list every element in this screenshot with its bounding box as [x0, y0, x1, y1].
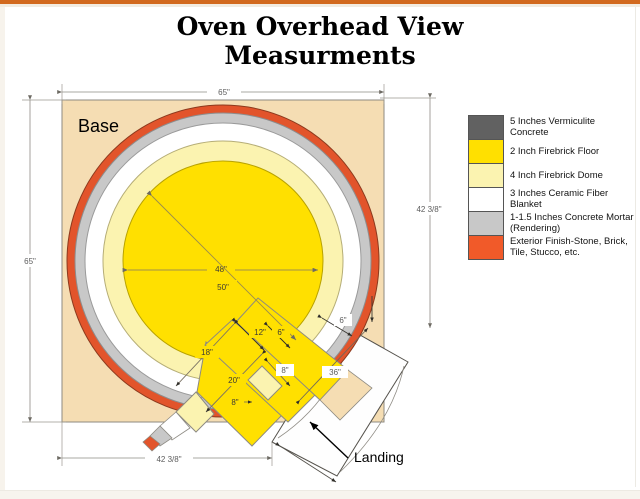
dimension-top-label: 65"	[218, 88, 230, 97]
legend-row: Exterior Finish-Stone, Brick, Tile, Stuc…	[468, 235, 636, 259]
page-bottom-edge	[0, 490, 640, 499]
diagram-page: Oven Overhead View Measurments	[0, 0, 640, 499]
legend-row: 4 Inch Firebrick Dome	[468, 163, 636, 187]
dimension-50-label: 50"	[217, 283, 229, 292]
dimension-12-label: 12"	[254, 328, 266, 337]
dimension-6-corner-label: 6"	[339, 316, 346, 325]
dimension-8-label: 8"	[281, 366, 288, 375]
dimension-8-base-label: 8"	[231, 398, 238, 407]
base-label: Base	[78, 116, 119, 136]
legend-swatch-exterior-finish	[468, 235, 504, 260]
dimension-right-height: 42 3/8"	[380, 98, 453, 328]
legend-label-exterior-finish: Exterior Finish-Stone, Brick, Tile, Stuc…	[504, 235, 636, 259]
legend-row: 3 Inches Ceramic Fiber Blanket	[468, 187, 636, 211]
legend-row: 5 Inches Vermiculite Concrete	[468, 115, 636, 139]
legend-swatch-concrete-mortar	[468, 211, 504, 236]
legend-swatch-ceramic-fiber-blanket	[468, 187, 504, 212]
legend-swatch-firebrick-floor	[468, 139, 504, 164]
dimension-right-label: 42 3/8"	[416, 205, 441, 214]
legend-row: 1-1.5 Inches Concrete Mortar (Rendering)	[468, 211, 636, 235]
page-title: Oven Overhead View Measurments	[0, 12, 640, 70]
dimension-18-label: 18"	[201, 348, 213, 357]
title-line-1: Oven Overhead View	[0, 12, 640, 41]
title-line-2: Measurments	[0, 41, 640, 70]
dimension-bottom-label: 42 3/8"	[156, 455, 181, 464]
landing-label: Landing	[354, 449, 404, 465]
legend-label-concrete-mortar: 1-1.5 Inches Concrete Mortar (Rendering)	[504, 211, 636, 235]
legend-label-firebrick-floor: 2 Inch Firebrick Floor	[504, 139, 636, 163]
dimension-20-label: 20"	[228, 376, 240, 385]
materials-legend: 5 Inches Vermiculite Concrete 2 Inch Fir…	[468, 115, 636, 259]
dimension-left-height: 65"	[17, 100, 66, 422]
legend-label-ceramic-fiber-blanket: 3 Inches Ceramic Fiber Blanket	[504, 187, 636, 211]
legend-label-vermiculite-concrete: 5 Inches Vermiculite Concrete	[504, 115, 636, 139]
dimension-left-label: 65"	[24, 257, 36, 266]
dimension-6-throat-label: 6"	[277, 328, 284, 337]
dimension-36-label: 36"	[329, 368, 341, 377]
legend-swatch-firebrick-dome	[468, 163, 504, 188]
legend-row: 2 Inch Firebrick Floor	[468, 139, 636, 163]
legend-label-firebrick-dome: 4 Inch Firebrick Dome	[504, 163, 636, 187]
oven-overhead-drawing: 48" 50" 65" 65" 42 3/	[0, 70, 470, 490]
legend-swatch-vermiculite-concrete	[468, 115, 504, 140]
